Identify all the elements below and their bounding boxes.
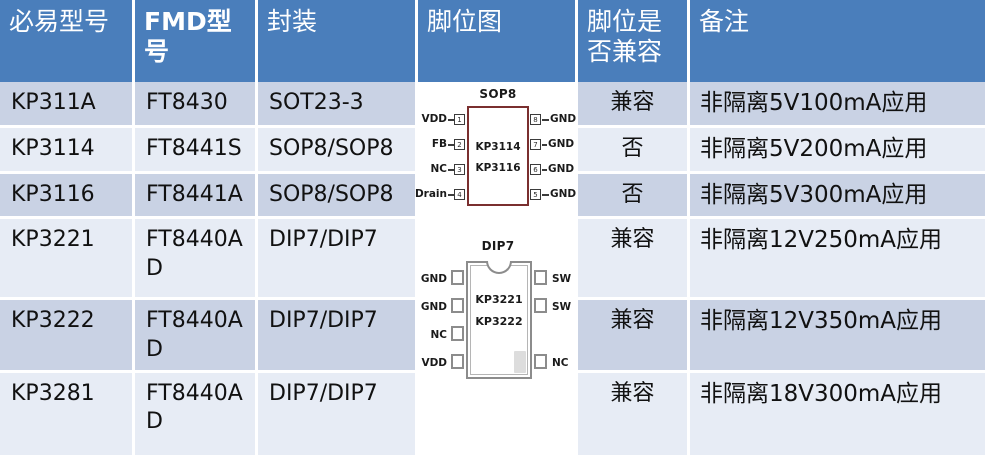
dip7-chip-label-1: KP3221 (466, 293, 532, 307)
sop8-pin-5-lead (542, 194, 549, 196)
dip7-drawing: DIP7 KP3221 KP3222 GND GND (418, 239, 578, 394)
cell-pin-compatible: 否 (578, 174, 690, 219)
sop8-pin-2-number: 2 (454, 139, 465, 150)
cell-part-number: KP3222 (0, 300, 135, 372)
sop8-pin-2-lead (448, 144, 455, 146)
dip7-left-pin-1 (451, 270, 464, 285)
dip7-left-pin-3-label: NC (413, 329, 447, 342)
dip7-right-pin-3-label: NC (552, 357, 569, 370)
cell-pin-compatible: 兼容 (578, 300, 690, 372)
table-row: KP3221 FT8440AD DIP7/DIP7 DIP7 KP3221 (0, 219, 985, 300)
dip7-corner-mark (514, 351, 526, 373)
sop8-pin-6-lead (542, 169, 547, 171)
sop8-pin-7-number: 7 (530, 139, 541, 150)
cell-remarks: 非隔离12V250mA应用 (690, 219, 985, 300)
spec-table-root: 必易型号 FMD型号 封装 脚位图 脚位是否兼容 备注 KP311A FT843… (0, 0, 985, 458)
cell-fmd-part-number: FT8441S (135, 128, 258, 174)
cell-part-number: KP3114 (0, 128, 135, 174)
header-row: 必易型号 FMD型号 封装 脚位图 脚位是否兼容 备注 (0, 0, 985, 82)
sop8-pin-3-lead (448, 169, 455, 171)
sop8-pin-6-label: GND (548, 163, 574, 176)
column-header-pin-compatible: 脚位是否兼容 (578, 0, 690, 82)
dip7-right-pin-2-label: SW (552, 301, 571, 314)
dip7-left-pin-4-label: VDD (413, 357, 447, 370)
cell-package: SOT23-3 (258, 82, 418, 128)
sop8-pin-4-lead (448, 194, 455, 196)
table-body: KP311A FT8430 SOT23-3 SOP8 KP3114 KP3116… (0, 82, 985, 458)
sop8-pin-4-label: Drain (410, 188, 447, 201)
dip7-title: DIP7 (418, 239, 578, 254)
sop8-pin-2-label: FB (415, 138, 447, 151)
cell-fmd-part-number: FT8441A (135, 174, 258, 219)
device-cross-reference-table: 必易型号 FMD型号 封装 脚位图 脚位是否兼容 备注 KP311A FT843… (0, 0, 985, 458)
column-header-part-number: 必易型号 (0, 0, 135, 82)
sop8-pin-7-label: GND (548, 138, 574, 151)
cell-part-number: KP3221 (0, 219, 135, 300)
cell-pin-compatible: 兼容 (578, 219, 690, 300)
column-header-package: 封装 (258, 0, 418, 82)
dip7-right-pin-2 (534, 298, 547, 313)
cell-pinout-diagram-sop8: SOP8 KP3114 KP3116 1 VDD 2 FB 3 (418, 82, 578, 219)
dip7-left-pin-2 (451, 298, 464, 313)
cell-remarks: 非隔离18V300mA应用 (690, 373, 985, 458)
cell-fmd-part-number: FT8440AD (135, 373, 258, 458)
sop8-pin-8-number: 8 (530, 114, 541, 125)
dip7-right-pin-3 (534, 354, 547, 369)
cell-package: DIP7/DIP7 (258, 300, 418, 372)
dip7-left-pin-3 (451, 326, 464, 341)
table-row: KP311A FT8430 SOT23-3 SOP8 KP3114 KP3116… (0, 82, 985, 128)
sop8-chip-label-2: KP3116 (467, 162, 529, 175)
sop8-pin-1-label: VDD (415, 113, 447, 126)
cell-package: SOP8/SOP8 (258, 128, 418, 174)
cell-pin-compatible: 否 (578, 128, 690, 174)
dip7-right-pin-1-label: SW (552, 273, 571, 286)
sop8-pin-3-number: 3 (454, 164, 465, 175)
sop8-pin-4-number: 4 (454, 189, 465, 200)
sop8-drawing: SOP8 KP3114 KP3116 1 VDD 2 FB 3 (418, 86, 578, 210)
dip7-left-pin-2-label: GND (413, 301, 447, 314)
cell-remarks: 非隔离5V100mA应用 (690, 82, 985, 128)
column-header-pinout-diagram: 脚位图 (418, 0, 578, 82)
cell-fmd-part-number: FT8440AD (135, 300, 258, 372)
column-header-fmd-part-number: FMD型号 (135, 0, 258, 82)
dip7-chip-label-2: KP3222 (466, 315, 532, 329)
sop8-pin-5-number: 5 (530, 189, 541, 200)
sop8-pin-5-label: GND (550, 188, 576, 201)
sop8-package-body (467, 106, 529, 206)
sop8-title: SOP8 (418, 87, 578, 102)
cell-pin-compatible: 兼容 (578, 373, 690, 458)
dip7-left-pin-4 (451, 354, 464, 369)
cell-package: DIP7/DIP7 (258, 373, 418, 458)
column-header-remarks: 备注 (690, 0, 985, 82)
cell-pinout-diagram-dip7: DIP7 KP3221 KP3222 GND GND (418, 219, 578, 457)
cell-remarks: 非隔离5V300mA应用 (690, 174, 985, 219)
cell-fmd-part-number: FT8440AD (135, 219, 258, 300)
sop8-pin-7-lead (542, 144, 547, 146)
sop8-chip-label-1: KP3114 (467, 141, 529, 154)
cell-part-number: KP311A (0, 82, 135, 128)
dip7-right-pin-1 (534, 270, 547, 285)
cell-part-number: KP3116 (0, 174, 135, 219)
sop8-pin-1-number: 1 (454, 114, 465, 125)
cell-remarks: 非隔离5V200mA应用 (690, 128, 985, 174)
cell-package: SOP8/SOP8 (258, 174, 418, 219)
cell-part-number: KP3281 (0, 373, 135, 458)
sop8-pin-3-label: NC (415, 163, 447, 176)
sop8-pin-8-lead (542, 119, 549, 121)
dip7-left-pin-1-label: GND (413, 273, 447, 286)
sop8-pin-6-number: 6 (530, 164, 541, 175)
table-header: 必易型号 FMD型号 封装 脚位图 脚位是否兼容 备注 (0, 0, 985, 82)
cell-remarks: 非隔离12V350mA应用 (690, 300, 985, 372)
cell-fmd-part-number: FT8430 (135, 82, 258, 128)
sop8-pin-1-lead (448, 119, 455, 121)
cell-package: DIP7/DIP7 (258, 219, 418, 300)
cell-pin-compatible: 兼容 (578, 82, 690, 128)
sop8-pin-8-label: GND (550, 113, 576, 126)
